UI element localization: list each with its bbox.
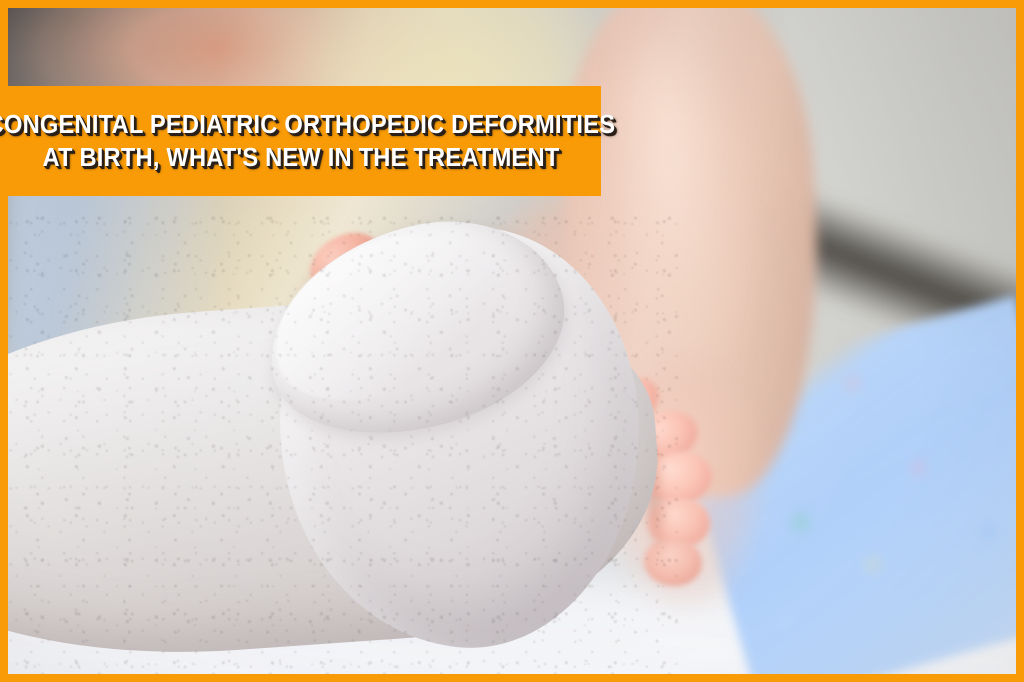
article-header-screenshot: CONGENITAL PEDIATRIC ORTHOPEDIC DEFORMIT…	[0, 0, 1024, 682]
title-line-1: CONGENITAL PEDIATRIC ORTHOPEDIC DEFORMIT…	[0, 110, 615, 141]
title-banner: CONGENITAL PEDIATRIC ORTHOPEDIC DEFORMIT…	[0, 86, 601, 196]
plaster-texture-overlay	[8, 208, 678, 674]
title-line-2: AT BIRTH, WHAT'S NEW IN THE TREATMENT	[42, 143, 559, 174]
